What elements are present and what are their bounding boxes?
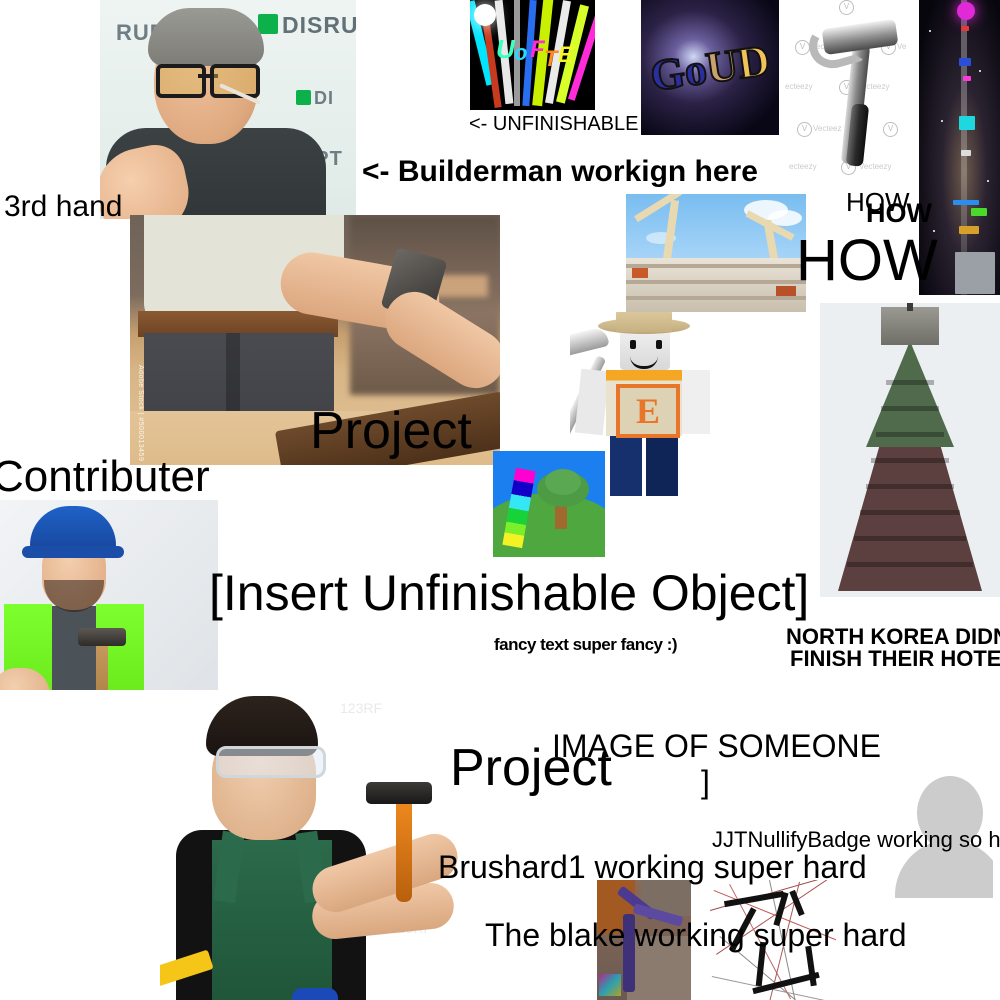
roblox-right-leg — [646, 434, 678, 496]
neon-letter-f: F — [530, 36, 545, 64]
roblox-left-arm — [575, 369, 610, 436]
annotation-the-blake: The blake working super hard — [485, 919, 907, 951]
tower-glow — [957, 2, 975, 20]
disrupt-logo-mark — [296, 90, 311, 105]
north-korea-hotel-photo — [820, 303, 1000, 597]
goud-galaxy-logo: GoUD — [641, 0, 779, 135]
hotel-band — [847, 562, 973, 567]
roblox-hat-crown — [616, 312, 672, 332]
neon-letter-t: T — [544, 46, 557, 72]
roblox-letter-block: E — [616, 384, 680, 438]
disrupt-watermark-text: DI — [314, 88, 334, 109]
hotel-band — [866, 484, 954, 489]
disrupt-logo-mark — [258, 14, 278, 34]
tower-base — [955, 252, 995, 294]
neon-light — [474, 4, 496, 26]
pixel-art-tower-scene — [493, 451, 605, 557]
tower-part — [953, 200, 979, 205]
tower-column — [961, 0, 967, 295]
crane-mast — [907, 303, 913, 311]
vecteezy-watermark: ecteezy — [789, 162, 817, 171]
neon-letter-e: E — [558, 42, 573, 68]
star — [929, 30, 931, 32]
colored-pixels — [599, 974, 621, 996]
hotel-crown-structure — [881, 307, 939, 345]
vest-worker-photo — [0, 500, 218, 690]
hotel-band — [881, 406, 939, 411]
goud-letter-d: D — [734, 35, 772, 88]
annotation-builderman-arrow: <- Builderman workign here — [362, 157, 758, 187]
hammer-head — [78, 628, 126, 646]
annotation-north-korea-line2: FINISH THEIR HOTEL — [790, 648, 1000, 670]
neon-letter-u: U — [496, 34, 515, 65]
vecteezy-badge-icon: V — [797, 122, 812, 137]
annotation-unfinishable-arrow: <- UNFINISHABLE — [469, 114, 638, 134]
annotation-contributer: Contributer — [0, 455, 210, 499]
hotel-band — [876, 432, 944, 437]
disrupt-conference-photo: DISRUPT RUPT DIS DI RUPT SRUPT — [100, 0, 356, 219]
annotation-fancy-text: fancy text super fancy :) — [494, 636, 677, 653]
unfinishable-neon-render: U o F T E — [470, 0, 595, 110]
annotation-how-bold: HOW — [866, 200, 932, 227]
building-floor-line — [626, 280, 806, 284]
speaker-hair — [148, 8, 264, 66]
safety-goggles — [216, 746, 326, 778]
orange-hammer-handle — [396, 798, 412, 902]
rf123-watermark: 123RF — [340, 700, 382, 716]
hotel-band — [886, 380, 934, 385]
building-floor-line — [626, 296, 806, 300]
hammer-handle — [96, 642, 108, 690]
tower-part — [963, 76, 971, 81]
vecteezy-watermark: Ve — [897, 42, 906, 51]
vecteezy-watermark: Vecteez — [813, 124, 841, 133]
tower-part — [959, 58, 971, 66]
speaker-glasses — [156, 64, 260, 90]
annotation-image-of-someone-bracket: ] — [701, 766, 710, 798]
star — [987, 180, 989, 182]
star — [941, 120, 943, 122]
scaffold-accent — [632, 268, 648, 278]
tower-part — [959, 226, 979, 234]
blue-tool — [292, 988, 338, 1000]
hotel-band — [854, 536, 966, 541]
roblox-right-arm — [682, 370, 710, 434]
roblox-block-letter: E — [620, 388, 676, 434]
goggles-worker-photo: 123RF 123RF 123RF 123RF — [160, 690, 480, 1000]
annotation-project-bottom: Project — [450, 742, 612, 794]
annotation-how-large: HOW — [796, 232, 938, 290]
roblox-eye-right — [656, 340, 662, 349]
annotation-project-top: Project — [310, 405, 472, 457]
vecteezy-watermark: Vecteezy — [859, 162, 891, 171]
neon-letter-o: o — [514, 40, 527, 66]
adobe-stock-watermark: Adobe Stock | #500013459 — [132, 365, 144, 465]
vecteezy-badge-icon: V — [839, 0, 854, 15]
hammer-clipart-watermarked: V Vecteezy V Ve ecteezy V Vecteezy V Vec… — [785, 0, 920, 180]
hotel-band — [860, 510, 960, 515]
roblox-left-leg — [610, 434, 642, 496]
star — [979, 70, 981, 72]
tree-canopy-top — [545, 469, 581, 495]
annotation-jjt-nullify: JJTNullifyBadge working so hard — [712, 829, 1000, 851]
tower-part — [959, 116, 975, 130]
vecteezy-watermark: ecteezy — [785, 82, 813, 91]
tower-part — [971, 208, 987, 216]
orange-hammer-head — [366, 782, 432, 804]
collage-canvas: DISRUPT RUPT DIS DI RUPT SRUPT U o F T E — [0, 0, 1000, 1000]
tower-part — [961, 26, 969, 31]
construction-cranes-photo — [626, 194, 806, 312]
annotation-3rd-hand: 3rd hand — [4, 192, 122, 222]
goud-wordmark: GoUD — [647, 34, 773, 101]
building-floor-line — [626, 264, 806, 268]
roblox-hammer-head — [570, 326, 610, 358]
annotation-brushard: Brushard1 working super hard — [438, 851, 867, 883]
annotation-insert-object: [Insert Unfinishable Object] — [209, 568, 809, 618]
vecteezy-badge-icon: V — [795, 40, 810, 55]
annotation-north-korea-line1: NORTH KOREA DIDNT — [786, 626, 1000, 648]
disrupt-watermark-text: DISRUPT — [282, 12, 356, 39]
scaffold-accent — [776, 286, 796, 296]
tower-part — [961, 150, 971, 156]
vecteezy-badge-icon: V — [883, 122, 898, 137]
hotel-band — [871, 458, 949, 463]
roblox-eye-left — [630, 340, 636, 349]
hard-hat-brim — [22, 546, 124, 558]
